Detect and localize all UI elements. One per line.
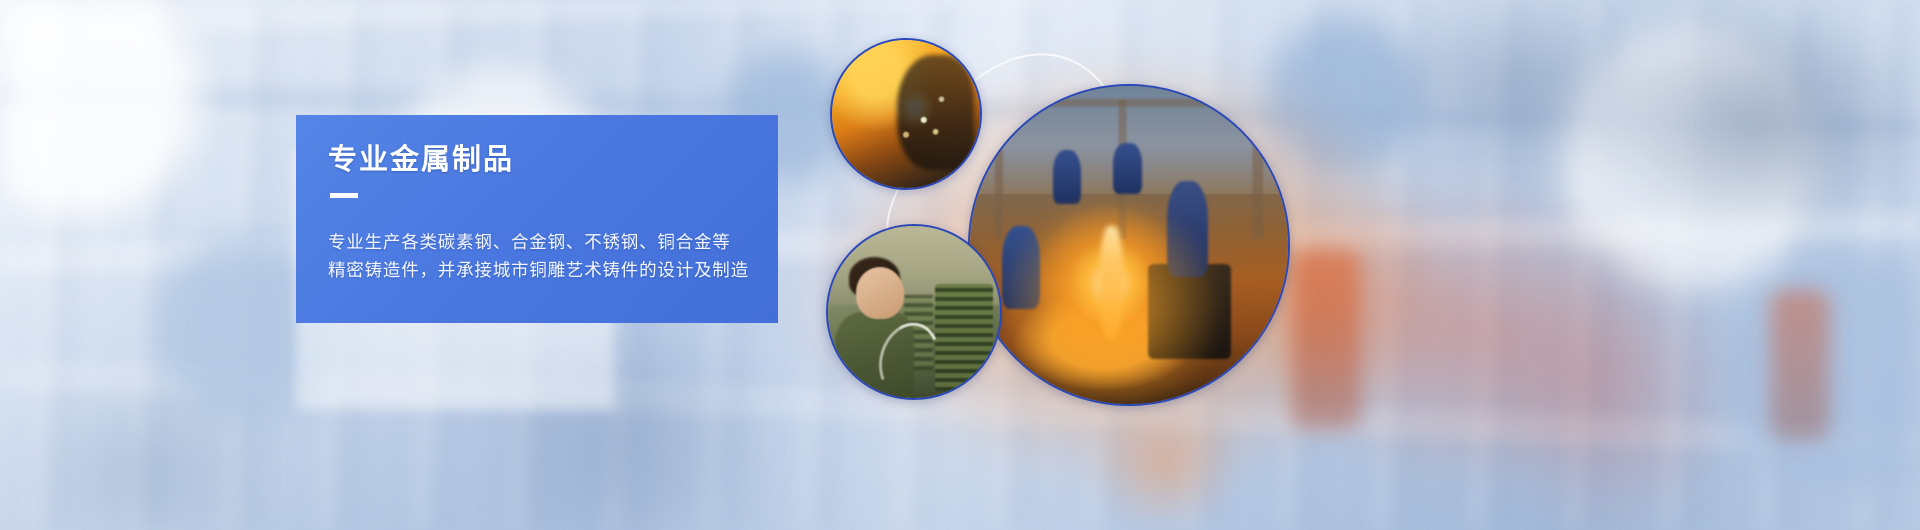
foundry-photo-circle: [968, 84, 1290, 406]
welding-photo-circle: [830, 38, 982, 190]
welding-spark-specks: [832, 40, 980, 188]
foreground-machine-hint-right: [1770, 290, 1830, 440]
hero-text-panel-inner: 专业金属制品 专业生产各类碳素钢、合金钢、不锈钢、铜合金等 精密铸造件，并承接城…: [296, 115, 778, 285]
page-title: 专业金属制品: [328, 145, 778, 177]
hero-text-panel: 专业金属制品 专业生产各类碳素钢、合金钢、不锈钢、铜合金等 精密铸造件，并承接城…: [296, 115, 778, 323]
title-divider: [330, 193, 358, 198]
hero-banner: 专业金属制品 专业生产各类碳素钢、合金钢、不锈钢、铜合金等 精密铸造件，并承接城…: [0, 0, 1920, 530]
foundry-glow: [970, 86, 1288, 404]
hero-description-line-1: 专业生产各类碳素钢、合金钢、不锈钢、铜合金等: [328, 228, 778, 256]
foreground-machine-hint-left: [1290, 250, 1360, 430]
hero-description-line-2: 精密铸造件，并承接城市铜雕艺术铸件的设计及制造: [328, 256, 778, 284]
operator-head-shape: [856, 267, 904, 319]
foreground-floor-glow: [1090, 420, 1240, 530]
hero-description: 专业生产各类碳素钢、合金钢、不锈钢、铜合金等 精密铸造件，并承接城市铜雕艺术铸件…: [328, 228, 778, 285]
operator-photo-circle: [826, 224, 1002, 400]
operator-parts-rack: [935, 284, 993, 391]
